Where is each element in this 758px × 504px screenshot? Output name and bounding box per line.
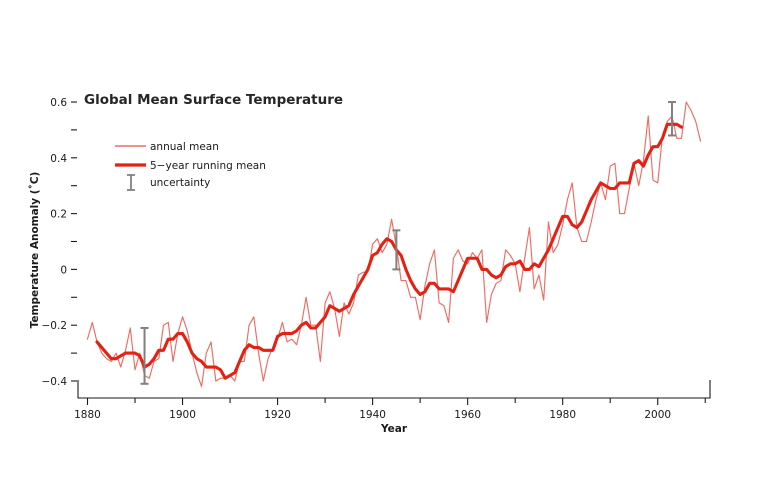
y-tick-label: 0 <box>60 264 67 276</box>
y-tick-label: −0.2 <box>42 320 68 332</box>
legend-label-uncertainty: uncertainty <box>150 177 210 189</box>
legend-label-running-mean: 5−year running mean <box>150 160 266 172</box>
legend-label-annual-mean: annual mean <box>150 141 219 153</box>
x-tick-label: 1880 <box>74 409 101 421</box>
chart-figure: Global Mean Surface Temperature Temperat… <box>0 0 758 504</box>
x-tick-label: 1960 <box>454 409 481 421</box>
y-axis-title: Temperature Anomaly (˚C) <box>29 172 41 329</box>
y-tick-label: 0.6 <box>50 97 67 109</box>
x-axis-title: Year <box>380 423 408 435</box>
y-tick-label: −0.4 <box>42 376 68 388</box>
x-tick-label: 1980 <box>549 409 576 421</box>
chart-title: Global Mean Surface Temperature <box>84 92 343 108</box>
x-tick-label: 1920 <box>264 409 291 421</box>
x-tick-label: 2000 <box>644 409 671 421</box>
y-tick-label: 0.2 <box>50 209 67 221</box>
x-tick-label: 1900 <box>169 409 196 421</box>
temperature-anomaly-chart: Global Mean Surface Temperature Temperat… <box>0 0 758 504</box>
x-tick-label: 1940 <box>359 409 386 421</box>
y-tick-label: 0.4 <box>50 153 67 165</box>
